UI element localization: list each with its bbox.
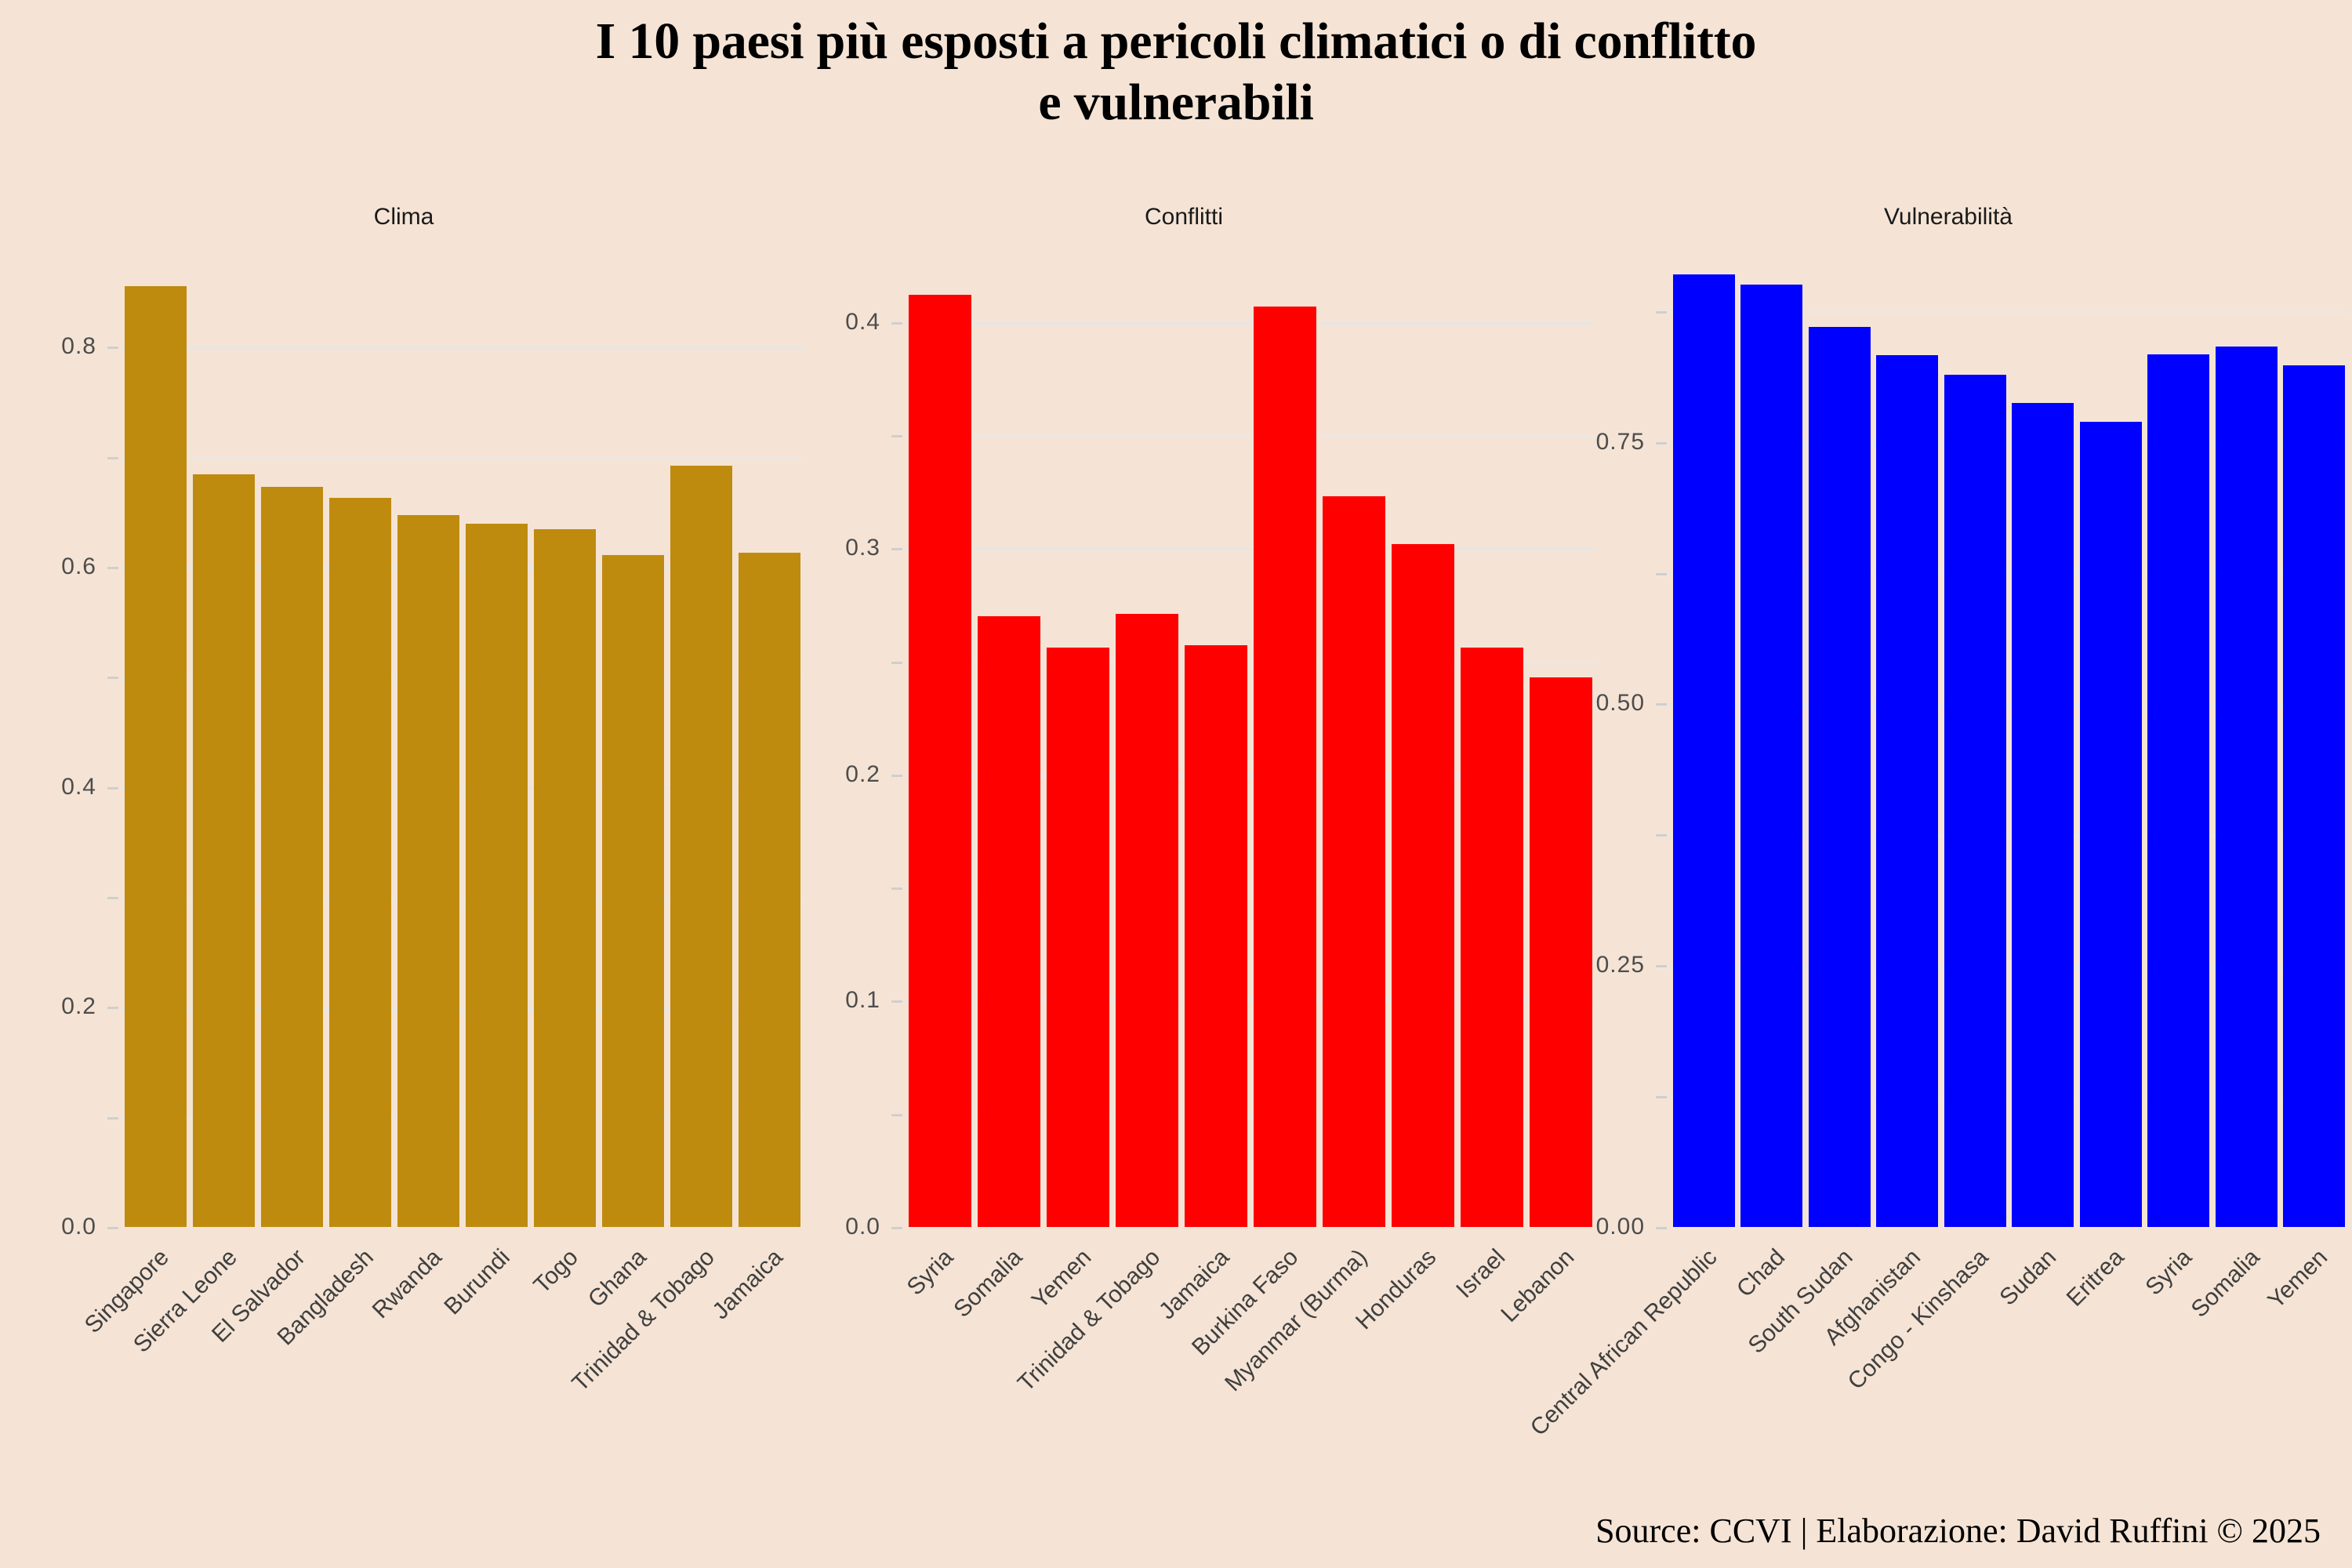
bar[interactable] [1876,355,1938,1227]
bar[interactable] [2216,347,2278,1227]
bar[interactable] [1323,496,1385,1227]
y-axis-tick [107,1227,118,1229]
title-line-1: I 10 paesi più esposti a pericoli climat… [596,13,1757,70]
x-axis-label: Togo [528,1244,583,1299]
y-axis-label: 0.00 [1544,1214,1645,1240]
y-axis-tick [891,548,902,550]
y-axis-label: 0.0 [8,1214,96,1240]
y-axis-tick-minor [107,457,118,459]
x-axis-label: Rwanda [368,1244,448,1324]
bar[interactable] [1116,614,1178,1227]
x-axis-label: Yemen [2263,1244,2332,1314]
y-axis-label: 0.0 [800,1214,880,1240]
bar[interactable] [978,616,1040,1227]
x-axis-label: Chad [1732,1244,1791,1303]
y-axis-label: 0.1 [800,987,880,1014]
y-axis-tick [107,1007,118,1009]
bar[interactable] [2283,365,2345,1227]
bar[interactable] [1254,307,1316,1227]
y-axis-label: 0.2 [800,761,880,788]
x-axis-label: Eritrea [2062,1244,2130,1312]
x-axis-label: Lebanon [1496,1244,1580,1328]
bar[interactable] [261,487,323,1227]
bar-series [122,259,804,1227]
bar[interactable] [397,515,459,1227]
x-axis-label: Somalia [2187,1244,2266,1323]
bar[interactable] [534,529,596,1227]
y-axis-tick-minor [891,887,902,890]
y-axis-tick [107,567,118,569]
y-axis-tick-minor [1656,1096,1667,1098]
y-axis-tick-minor [891,1114,902,1116]
bar[interactable] [125,286,187,1227]
y-axis-label: 0.75 [1544,429,1645,456]
bar-series [1670,259,2348,1227]
y-axis-tick-minor [107,677,118,679]
y-axis-tick [891,775,902,777]
y-axis-tick-minor [1656,834,1667,837]
y-axis-tick [891,1000,902,1003]
y-axis-tick [1656,703,1667,706]
page-title: I 10 paesi più esposti a pericoli climat… [0,11,2352,133]
x-axis-labels: Central African RepublicChadSouth SudanA… [1670,1244,2348,1503]
y-axis-tick-minor [891,662,902,664]
y-axis-tick [1656,1227,1667,1229]
plot-area: 0.00.20.40.60.8SingaporeSierra LeoneEl S… [8,259,800,1243]
y-axis-label: 0.50 [1544,690,1645,717]
bar[interactable] [602,555,664,1227]
y-axis-tick [891,322,902,325]
y-axis-tick-minor [1656,311,1667,314]
y-axis-label: 0.25 [1544,952,1645,978]
title-line-2: e vulnerabili [0,72,2352,133]
panel-title: Clima [8,204,800,230]
plot-area: 0.000.250.500.75Central African Republic… [1544,259,2352,1243]
y-axis-tick [107,347,118,349]
y-axis-label: 0.4 [8,774,96,800]
y-axis-label: 0.2 [8,993,96,1020]
x-axis-label: Syria [902,1244,959,1301]
x-axis-label: Jamaica [708,1244,789,1325]
bar[interactable] [466,524,528,1227]
source-credit: Source: CCVI | Elaborazione: David Ruffi… [1595,1511,2321,1551]
y-axis-tick [1656,965,1667,967]
bar[interactable] [1944,375,2006,1227]
plot-area: 0.00.10.20.30.4SyriaSomaliaYemenTrinidad… [800,259,1568,1243]
bar[interactable] [1392,544,1454,1227]
y-axis-tick [1656,442,1667,445]
bar[interactable] [1809,327,1871,1227]
y-axis-tick [891,1227,902,1229]
y-axis-tick-minor [107,897,118,899]
x-axis-label: Israel [1451,1244,1511,1304]
bar[interactable] [2147,354,2209,1228]
bar[interactable] [329,498,391,1227]
bar[interactable] [1047,648,1109,1227]
bar[interactable] [2080,422,2142,1227]
bar[interactable] [2012,403,2074,1227]
bar-series [906,259,1595,1227]
y-axis-tick [107,787,118,789]
y-axis-tick-minor [107,1117,118,1120]
panel-title: Conflitti [800,204,1568,230]
x-axis-label: Sudan [1994,1244,2061,1311]
x-axis-label: Syria [2140,1244,2197,1301]
y-axis-label: 0.8 [8,333,96,360]
bar[interactable] [1185,645,1247,1227]
y-axis-tick-minor [1656,573,1667,575]
bar[interactable] [1740,285,1802,1227]
bar[interactable] [670,466,732,1227]
y-axis-label: 0.4 [800,309,880,336]
x-axis-labels: SyriaSomaliaYemenTrinidad & TobagoJamaic… [906,1244,1595,1503]
x-axis-label: Somalia [949,1244,1028,1323]
bar[interactable] [739,553,800,1227]
bar[interactable] [909,295,971,1227]
bar[interactable] [1461,648,1523,1227]
panel-title: Vulnerabilità [1544,204,2352,230]
bar[interactable] [193,474,255,1227]
y-axis-label: 0.6 [8,554,96,580]
x-axis-labels: SingaporeSierra LeoneEl SalvadorBanglade… [122,1244,804,1503]
x-axis-label: Burundi [439,1244,515,1320]
bar[interactable] [1673,274,1735,1227]
y-axis-label: 0.3 [800,535,880,561]
y-axis-tick-minor [891,435,902,437]
